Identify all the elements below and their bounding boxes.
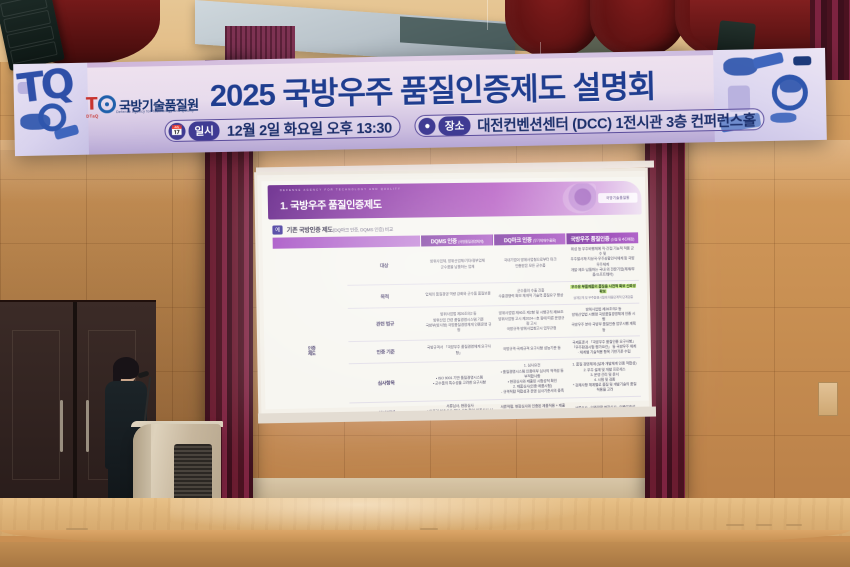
table-cell: 방위사업법 제26조의2 등방위산업법 시행령 국방품질경영체계 인증 시행국방…	[567, 303, 640, 337]
banner-tq-logo-art: TQ	[16, 66, 73, 107]
place-label: 장소	[439, 115, 471, 135]
place-value: 대전컨벤션센터 (DCC) 1전시관 3층 컨퍼런스홀	[477, 109, 756, 136]
banner-art-left: TQ	[13, 63, 89, 156]
table-cell: 국제표준서 「국방우주 품질인증 요구사항」「우주환경시험·평가요건」 등 국방…	[568, 336, 640, 360]
dtaq-logo-icon: T DTaQ	[86, 95, 114, 116]
table-row-label: 인증 기준	[349, 340, 423, 364]
table-cell: 방위사업법 제46조 제2항 및 시행규칙 제58조방위사업청 고시 제2024…	[495, 304, 568, 338]
table-cell: • ISO 9001 기반 품질경영시스템• 군수품의 특수성을 고려한 요구사…	[423, 361, 497, 401]
slide-subtitle: 예 기존 국방인증 제도(DQ마크 인증, DQMS 인증) 비교	[272, 224, 393, 235]
table-cell: 1. 품질 경영체계 (설계·개발체계 인증 적합성)2. 우주 설계 및 개발…	[568, 358, 641, 398]
table-cell: 국내기업이 방위사업청으로부터 마크인증받은 모든 군수품	[494, 244, 567, 283]
map-pin-icon: ●	[419, 117, 436, 134]
swag-panel	[505, 0, 601, 58]
banner-place-group: ● 장소 대전컨벤션센터 (DCC) 1전시관 3층 컨퍼런스홀	[415, 108, 765, 137]
subtitle-main: 기존 국방인증 제도	[287, 228, 333, 235]
table-cell: 군수품의 수출 진흥수출경쟁력 확보 체계적 기술력 품질요구 향상	[494, 282, 567, 306]
door-handle[interactable]	[60, 400, 63, 452]
table-cell: 우주용 부품제품의 품질을 사전적 확보 신뢰성 확보설계단계 및 우주환경시험…	[567, 281, 639, 305]
banner-org-logo: T DTaQ 국방기술품질원 Defense Agency for Techno…	[86, 88, 205, 120]
table-cell: 업체의 품질경영 역량 강화와 군수품 품질보증	[421, 283, 494, 307]
table-cell: 국방규격서 「국방우주 품질경영체계 요구사항」	[422, 339, 495, 363]
auditorium-photo: DEFENSE AGENCY FOR TECHNOLOGY AND QUALIT…	[0, 0, 850, 567]
table-cell: 방위사업체, 방위산업체/기타/정부업체군수품을 납품하는 업체	[421, 245, 495, 284]
date-value: 12월 2일 화요일 오후 13:30	[227, 116, 392, 140]
swag-panel	[590, 0, 686, 58]
table-cell: 국방규격·국제규격 요구사항 성능기준 등	[495, 337, 568, 361]
calendar-icon: 📅	[168, 122, 185, 139]
slide-decorative-icon	[562, 183, 596, 213]
subtitle-sub: (DQ마크 인증, DQMS 인증) 비교	[333, 227, 393, 233]
slide-logo-chip: 국방기술품질원	[598, 193, 637, 203]
banner-title: 2025 국방우주 품질인증제도 설명회	[209, 67, 680, 116]
table-row-label: 관련 법규	[348, 307, 422, 342]
stage-apron	[0, 542, 850, 567]
table-body: 인증제도대상방위사업체, 방위산업체/기타/정부업체군수품을 납품하는 업체국내…	[273, 243, 642, 418]
presentation-slide: DEFENSE AGENCY FOR TECHNOLOGY AND QUALIT…	[261, 177, 650, 410]
date-label: 일시	[188, 121, 220, 141]
stage-floor-sheen	[170, 498, 590, 532]
slide-eyebrow: DEFENSE AGENCY FOR TECHNOLOGY AND QUALIT…	[280, 188, 401, 192]
banner-date-group: 📅 일시 12월 2일 화요일 오후 13:30	[164, 115, 401, 142]
slide-title: 1. 국방우주 품질인증제도	[280, 196, 382, 212]
subtitle-badge: 예	[272, 225, 282, 234]
comparison-table: DQMS 인증 (국방품질경영체계) DQ마크 인증 (무기체계/수출용) 국방…	[273, 232, 642, 418]
table-group-label: 인증제도	[273, 248, 351, 419]
table-cell: 1. 심사요건 • 품질경영시스템 인증여부 심사의 적격성 등 부적합사항 •…	[496, 360, 569, 400]
table-row-label: 목적	[348, 284, 422, 308]
table-cell: 위성 등 우주비행체에 직·간접 기능적 적용 군수 및우주발사체·지상국·우주…	[566, 243, 639, 282]
event-banner: TQ T DTaQ 국방기술품질원 Defens	[13, 48, 827, 156]
wall-fixture-panel	[818, 382, 838, 416]
slide-header-bar: DEFENSE AGENCY FOR TECHNOLOGY AND QUALIT…	[268, 181, 642, 220]
table-row: 인증제도대상방위사업체, 방위산업체/기타/정부업체군수품을 납품하는 업체국내…	[273, 243, 639, 287]
table-row-label: 대상	[347, 247, 421, 286]
door-handle[interactable]	[86, 400, 89, 452]
projection-screen: DEFENSE AGENCY FOR TECHNOLOGY AND QUALIT…	[254, 168, 652, 419]
wall-baseboard	[210, 478, 650, 500]
curtain-wire	[487, 0, 488, 30]
table-row-label: 심사항목	[349, 363, 423, 403]
table-cell: 방위사업법 제26조의2 등방위산업 관련 품질경영시스템 기준국방부(방사청)…	[422, 306, 496, 340]
